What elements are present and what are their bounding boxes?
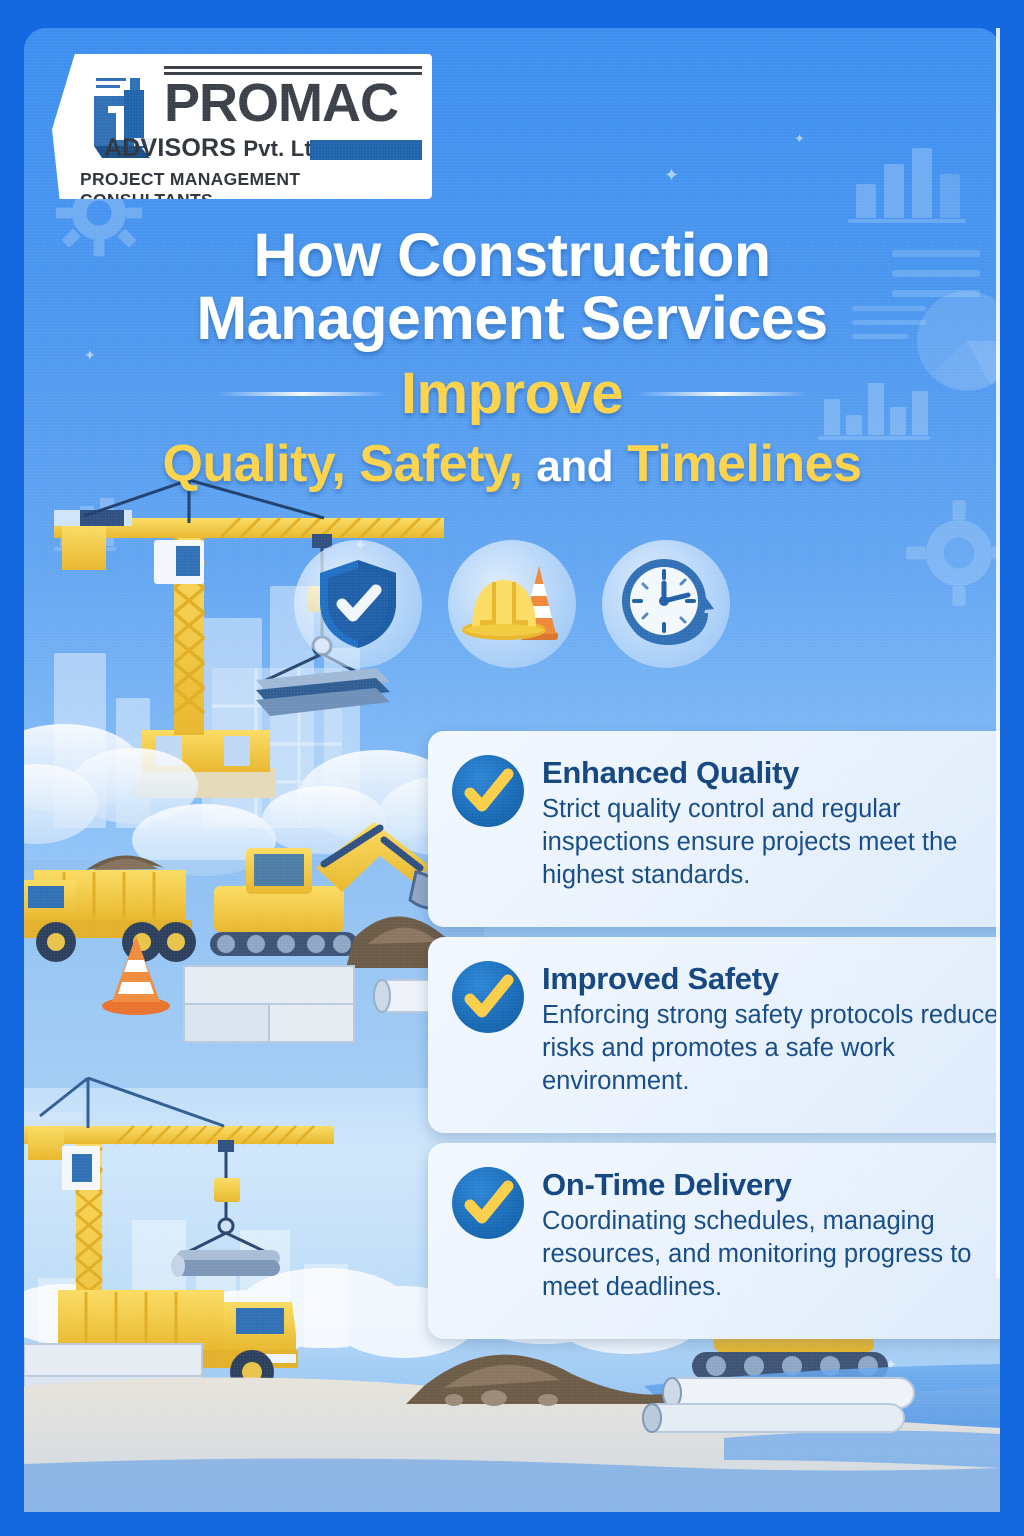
panel-right-seam xyxy=(996,28,1000,1278)
logo-wordmark: PROMAC xyxy=(164,72,398,134)
page-title: How Construction Management Services Imp… xyxy=(24,224,1000,494)
sparkle-icon: ✦ xyxy=(794,132,805,145)
bg-bar-chart-top xyxy=(854,148,974,218)
bg-bar xyxy=(912,148,932,218)
benefit-card-safety[interactable]: Improved Safety Enforcing strong safety … xyxy=(428,937,1000,1133)
check-circle-icon xyxy=(452,755,524,827)
card-description: Coordinating schedules, managing resourc… xyxy=(542,1205,1000,1304)
feature-icon-quality[interactable] xyxy=(294,540,422,668)
bg-bar xyxy=(940,174,960,218)
hard-hat-cone-icon xyxy=(460,558,564,650)
headline-line-3: Improve xyxy=(401,364,623,424)
headline-rule-right xyxy=(637,392,807,396)
headline-line-4: Quality, Safety, and Timelines xyxy=(24,434,1000,494)
crane-hook-load xyxy=(171,1140,280,1277)
feature-icon-row xyxy=(24,540,1000,668)
check-mark-icon xyxy=(452,755,524,827)
check-circle-icon xyxy=(452,1167,524,1239)
headline-quality-safety: Quality, Safety, xyxy=(162,435,522,493)
check-mark-icon xyxy=(452,1167,524,1239)
headline-improve-row: Improve xyxy=(24,364,1000,424)
headline-rule-left xyxy=(217,392,387,396)
card-body: On-Time Delivery Coordinating schedules,… xyxy=(542,1165,1000,1319)
benefit-card-delivery[interactable]: On-Time Delivery Coordinating schedules,… xyxy=(428,1143,1000,1339)
illustration-panel: ✦ ✦ ✦ ✦ ✦ ✦ xyxy=(24,28,1000,1512)
card-body: Improved Safety Enforcing strong safety … xyxy=(542,959,1000,1113)
feature-icon-safety[interactable] xyxy=(448,540,576,668)
shield-check-icon xyxy=(316,557,400,651)
concrete-blocks xyxy=(184,966,354,1042)
company-logo[interactable]: PROMAC ADVISORS Pvt. Ltd. PROJECT MANAGE… xyxy=(52,54,432,199)
logo-subtitle-advisors: ADVISORS Pvt. Ltd. xyxy=(104,134,332,163)
pipes xyxy=(643,1378,914,1432)
card-title: On-Time Delivery xyxy=(542,1167,1000,1203)
feature-icon-timeline[interactable] xyxy=(602,540,730,668)
clock-arrow-icon xyxy=(618,557,714,651)
check-circle-icon xyxy=(452,961,524,1033)
card-title: Improved Safety xyxy=(542,961,1000,997)
headline-and: and xyxy=(536,442,613,491)
sparkle-icon: ✦ xyxy=(664,166,679,184)
logo-advisors-text: ADVISORS xyxy=(104,134,236,162)
infographic-poster: ✦ ✦ ✦ ✦ ✦ ✦ xyxy=(0,0,1024,1536)
card-description: Strict quality control and regular inspe… xyxy=(542,793,1000,892)
card-title: Enhanced Quality xyxy=(542,755,1000,791)
card-description: Enforcing strong safety protocols reduce… xyxy=(542,999,1000,1098)
card-body: Enhanced Quality Strict quality control … xyxy=(542,753,1000,907)
headline-line-2: Management Services xyxy=(24,287,1000,350)
bg-bar xyxy=(856,184,876,218)
logo-accent-bar xyxy=(310,140,422,160)
benefit-card-quality[interactable]: Enhanced Quality Strict quality control … xyxy=(428,731,1000,927)
bg-bar-baseline xyxy=(848,219,966,223)
headline-line-1: How Construction xyxy=(24,224,1000,287)
bg-bar xyxy=(884,164,904,218)
headline-timelines: Timelines xyxy=(627,435,861,493)
check-mark-icon xyxy=(452,961,524,1033)
